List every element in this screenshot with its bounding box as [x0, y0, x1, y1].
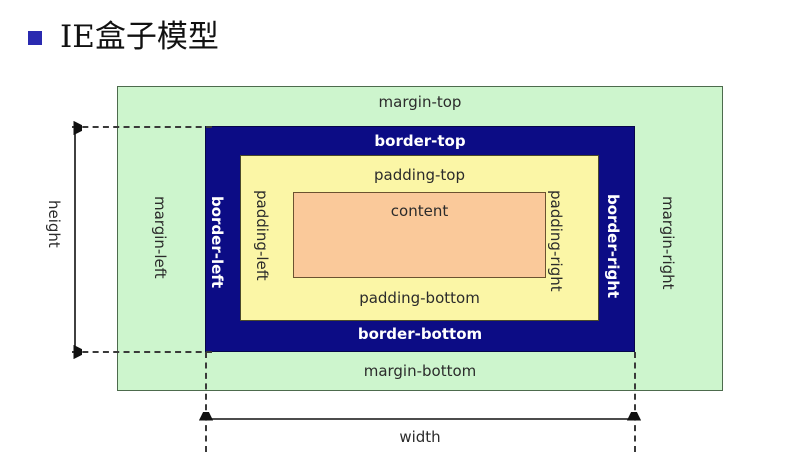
label-margin-top: margin-top [117, 95, 723, 110]
height-dimension-arrow [68, 120, 82, 360]
label-border-bottom: border-bottom [205, 327, 635, 342]
label-content: content [293, 204, 546, 219]
label-margin-bottom: margin-bottom [117, 364, 723, 379]
label-padding-top: padding-top [240, 168, 599, 183]
label-width: width [205, 428, 635, 446]
label-padding-left: padding-left [254, 190, 269, 281]
label-border-right: border-right [605, 194, 620, 298]
label-padding-bottom: padding-bottom [240, 291, 599, 306]
label-padding-right: padding-right [548, 190, 563, 292]
label-border-left: border-left [209, 196, 224, 288]
label-height: height [45, 200, 63, 248]
guide-line-top [72, 126, 212, 128]
label-margin-left: margin-left [152, 196, 167, 279]
guide-line-bottom [72, 351, 212, 353]
label-border-top: border-top [205, 134, 635, 149]
width-dimension-arrow [198, 412, 642, 426]
ie-box-model-diagram: margin-top border-top padding-top conten… [0, 0, 791, 462]
label-margin-right: margin-right [660, 196, 675, 290]
